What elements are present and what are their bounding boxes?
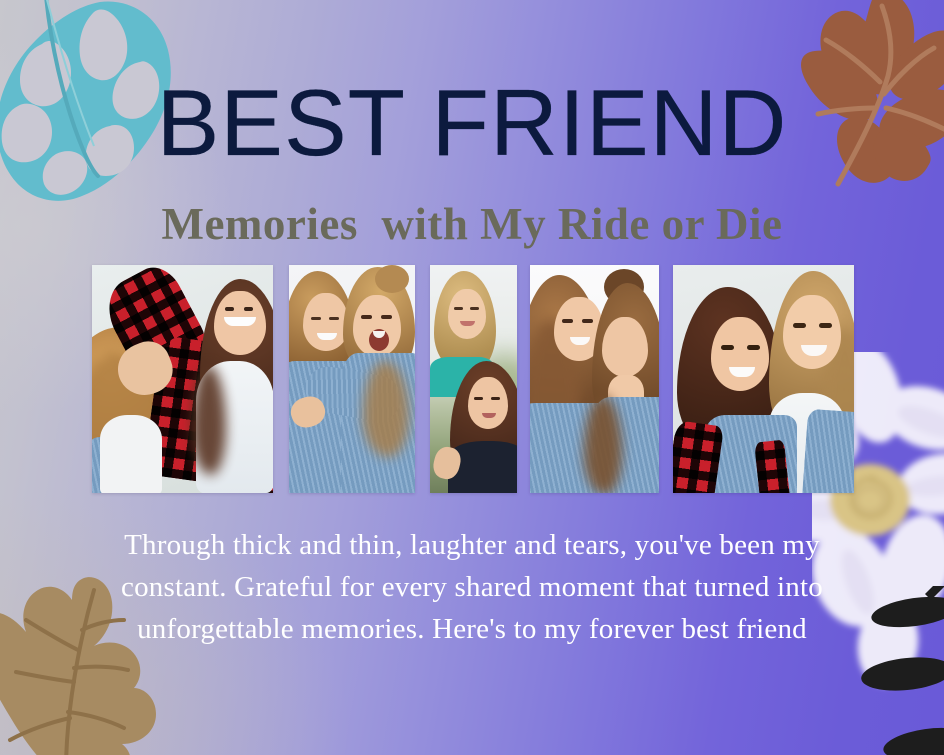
- photo-panel-5: [673, 265, 854, 493]
- photo-panel-1: [92, 265, 273, 493]
- photo-panel-3: [430, 265, 517, 493]
- photo-panel-2: [289, 265, 415, 493]
- photo-panel-4: [530, 265, 659, 493]
- body-text: Through thick and thin, laughter and tea…: [72, 524, 872, 650]
- page-subtitle: Memories with My Ride or Die: [0, 200, 944, 249]
- page-title: BEST FRIEND: [0, 76, 944, 170]
- photo-strip: [92, 265, 854, 493]
- poster-canvas: BEST FRIEND Memories with My Ride or Die: [0, 0, 944, 755]
